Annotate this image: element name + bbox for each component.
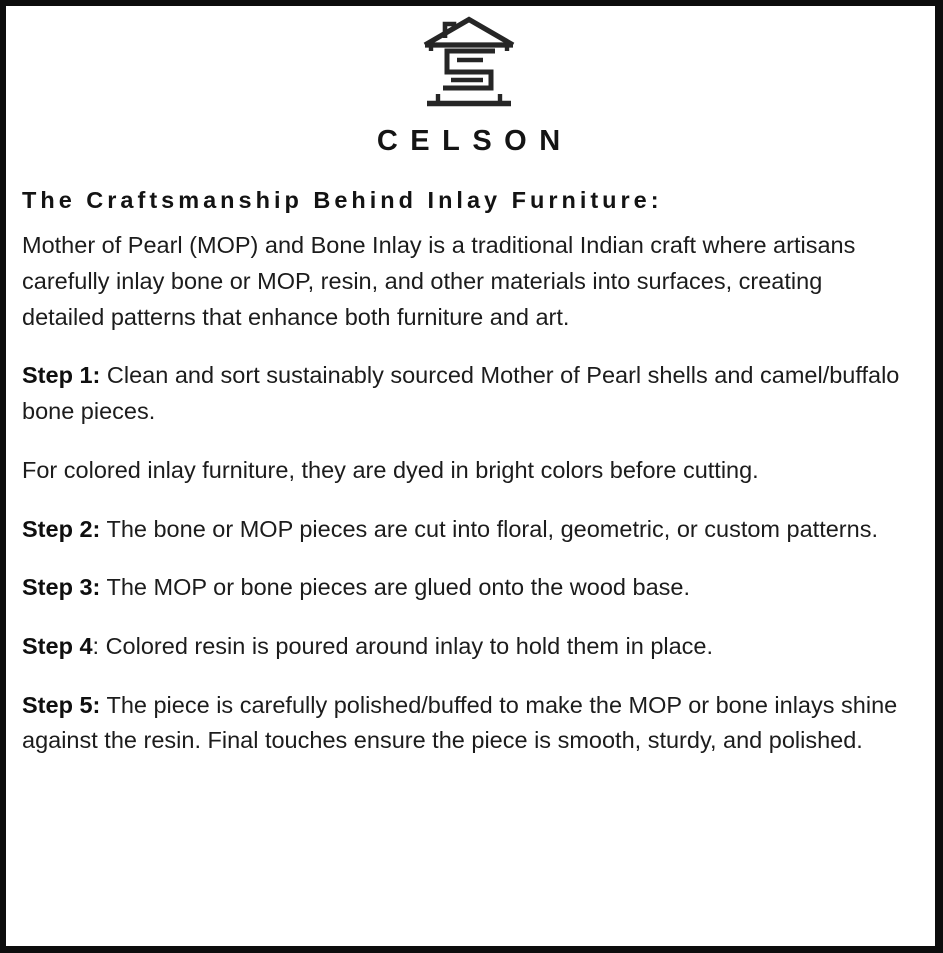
paragraph-text: The bone or MOP pieces are cut into flor… xyxy=(100,516,878,542)
brand-wordmark: CELSON xyxy=(364,127,572,156)
paragraph-step-2: Step 2: The bone or MOP pieces are cut i… xyxy=(22,512,908,548)
paragraph-text: The MOP or bone pieces are glued onto th… xyxy=(100,574,690,600)
paragraph-step-5: Step 5: The piece is carefully polished/… xyxy=(22,688,908,759)
brand-block: CELSON xyxy=(16,12,921,156)
page-title: The Craftsmanship Behind Inlay Furniture… xyxy=(22,186,921,214)
step-label: Step 1: xyxy=(22,362,100,388)
step-label: Step 2: xyxy=(22,516,100,542)
step-label: Step 3: xyxy=(22,574,100,600)
paragraph-text: For colored inlay furniture, they are dy… xyxy=(22,457,759,483)
paragraph-text: : Colored resin is poured around inlay t… xyxy=(93,633,714,659)
poster-content: CELSON The Craftsmanship Behind Inlay Fu… xyxy=(6,6,935,946)
paragraph-text: The piece is carefully polished/buffed t… xyxy=(22,692,897,754)
poster-card: CELSON The Craftsmanship Behind Inlay Fu… xyxy=(0,0,943,953)
body-copy: Mother of Pearl (MOP) and Bone Inlay is … xyxy=(22,214,908,759)
house-monogram-logo-icon xyxy=(421,14,517,114)
step-label: Step 5: xyxy=(22,692,100,718)
paragraph-intro: Mother of Pearl (MOP) and Bone Inlay is … xyxy=(22,228,908,335)
paragraph-note-dyeing: For colored inlay furniture, they are dy… xyxy=(22,453,908,489)
paragraph-text: Mother of Pearl (MOP) and Bone Inlay is … xyxy=(22,232,855,329)
paragraph-step-3: Step 3: The MOP or bone pieces are glued… xyxy=(22,570,908,606)
paragraph-text: Clean and sort sustainably sourced Mothe… xyxy=(22,362,899,424)
step-label: Step 4 xyxy=(22,633,93,659)
paragraph-step-4: Step 4: Colored resin is poured around i… xyxy=(22,629,908,665)
paragraph-step-1: Step 1: Clean and sort sustainably sourc… xyxy=(22,358,908,429)
